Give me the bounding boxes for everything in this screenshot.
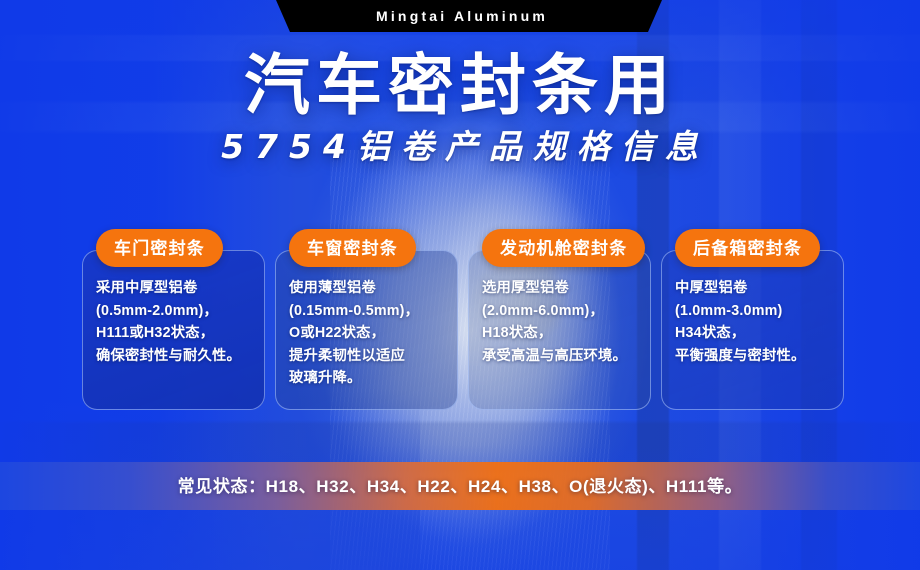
card-body-text: 选用厚型铝卷 (2.0mm-6.0mm)， H18状态， 承受高温与高压环境。 [482,277,650,367]
page-subtitle: 5754铝卷产品规格信息 [0,127,920,167]
title-block: 汽车密封条用 5754铝卷产品规格信息 [0,52,920,166]
brand-banner-label: Mingtai Aluminum [376,9,548,24]
card-badge-label: 发动机舱密封条 [500,240,627,257]
spec-card: 发动机舱密封条 选用厚型铝卷 (2.0mm-6.0mm)， H18状态， 承受高… [468,250,651,410]
card-badge: 车窗密封条 [289,229,416,267]
brand-banner: Mingtai Aluminum [262,0,662,32]
page-title: 汽车密封条用 [0,52,920,121]
common-tempers-bar: 常见状态：H18、H32、H34、H22、H24、H38、O(退火态)、H111… [0,462,920,510]
card-badge: 发动机舱密封条 [482,229,645,267]
card-body-text: 使用薄型铝卷 (0.15mm-0.5mm)， O或H22状态， 提升柔韧性以适应… [289,277,457,390]
spec-card: 后备箱密封条 中厚型铝卷 (1.0mm-3.0mm) H34状态， 平衡强度与密… [661,250,844,410]
card-badge: 后备箱密封条 [675,229,820,267]
card-badge-label: 车门密封条 [114,240,205,257]
card-badge-label: 车窗密封条 [307,240,398,257]
card-body-text: 采用中厚型铝卷 (0.5mm-2.0mm)， H111或H32状态， 确保密封性… [96,277,264,367]
spec-card-list: 车门密封条 采用中厚型铝卷 (0.5mm-2.0mm)， H111或H32状态，… [82,250,854,410]
card-badge: 车门密封条 [96,229,223,267]
card-badge-label: 后备箱密封条 [693,240,802,257]
spec-card: 车窗密封条 使用薄型铝卷 (0.15mm-0.5mm)， O或H22状态， 提升… [275,250,458,410]
card-body-text: 中厚型铝卷 (1.0mm-3.0mm) H34状态， 平衡强度与密封性。 [675,277,843,367]
common-tempers-label: 常见状态：H18、H32、H34、H22、H24、H38、O(退火态)、H111… [178,478,743,495]
infographic-canvas: Mingtai Aluminum 汽车密封条用 5754铝卷产品规格信息 车门密… [0,0,920,570]
spec-card: 车门密封条 采用中厚型铝卷 (0.5mm-2.0mm)， H111或H32状态，… [82,250,265,410]
